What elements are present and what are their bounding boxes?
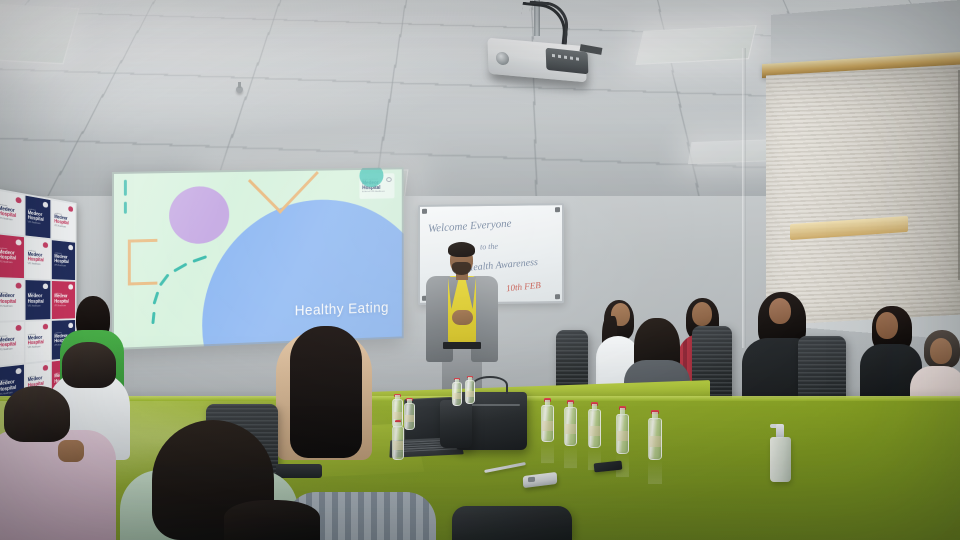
backdrop-tile-name-second: Hospital	[28, 299, 44, 305]
bottle-body	[541, 405, 554, 442]
water-bottle[interactable]	[452, 378, 462, 406]
backdrop-tile-name-second: Hospital	[0, 299, 16, 305]
shoulder-bag[interactable]	[440, 400, 472, 448]
conference-room-photo: مستشفىMedeorHospitalVPS Healthcareمستشفى…	[0, 0, 960, 540]
bottle-body	[465, 380, 475, 404]
bottle-label	[542, 421, 553, 431]
backdrop-tile-logo-icon	[15, 197, 21, 204]
backdrop-tile-logo-icon	[43, 283, 48, 289]
presenter-beard	[452, 262, 471, 275]
bottle-body	[648, 418, 662, 460]
slide-dash	[153, 291, 160, 304]
backdrop-tile: مستشفىMedeorHospitalVPS Healthcare	[0, 190, 24, 235]
slide-blue-circle	[202, 197, 403, 350]
bottle-reflection	[541, 442, 554, 463]
backdrop-tile-tagline: VPS Healthcare	[0, 306, 21, 308]
bottle-body	[392, 426, 404, 460]
bottle-label	[589, 426, 600, 436]
attendee-hair	[62, 342, 116, 388]
slide-dash	[124, 202, 127, 214]
attendee-head	[769, 298, 791, 324]
backdrop-tile-arabic: مستشفى	[0, 292, 21, 295]
bottle-body	[588, 409, 601, 448]
backdrop-tile-tagline: VPS Healthcare	[0, 262, 21, 266]
backdrop-tile-tagline: VPS Healthcare	[54, 305, 73, 307]
backdrop-tile-logo-icon	[68, 284, 73, 289]
hand-sanitizer[interactable]	[770, 437, 791, 482]
attendee-head	[876, 312, 898, 339]
backdrop-tile-logo-icon	[68, 323, 73, 328]
wall-corner	[742, 48, 746, 348]
whiteboard-text-line3: Health Awareness	[466, 257, 539, 274]
slide-dash	[192, 255, 207, 263]
bottle-label	[466, 391, 474, 397]
water-bottle[interactable]	[404, 398, 415, 430]
projection-screen: مستشفى ميدور Medeor Hospital A Unit of V…	[112, 167, 404, 350]
bottle-reflection	[564, 446, 577, 468]
remote-button[interactable]	[528, 477, 535, 483]
bottle-label	[405, 415, 414, 422]
attendee-hair	[4, 386, 70, 442]
attendee-head	[930, 338, 952, 364]
backdrop-tile-arabic: مستشفى	[28, 292, 49, 295]
slide-dash	[173, 263, 187, 273]
bottle-label	[565, 424, 576, 434]
backdrop-tile-tagline: VPS Healthcare	[0, 348, 21, 352]
whiteboard-signature: 10th FEB	[506, 280, 541, 293]
chair-armrest[interactable]	[276, 464, 322, 478]
bottle-label	[617, 431, 628, 442]
backdrop-tile-tagline: VPS Healthcare	[28, 346, 49, 350]
backdrop-tile: مستشفىMedeorHospitalVPS Healthcare	[52, 241, 75, 280]
backdrop-tile-logo-icon	[15, 367, 21, 373]
backdrop-tile-logo-icon	[15, 240, 21, 246]
whiteboard-corner	[555, 207, 560, 212]
water-bottle[interactable]	[564, 400, 577, 446]
bottle-body	[564, 407, 577, 446]
backdrop-tile-arabic: مستشفى	[54, 293, 73, 296]
backdrop-tile: مستشفىMedeorHospitalVPS Healthcare	[25, 238, 50, 279]
backdrop-tile-tagline: VPS Healthcare	[28, 305, 49, 307]
backdrop-tile-logo-icon	[15, 325, 21, 331]
water-bottle[interactable]	[616, 406, 629, 454]
backdrop-tile-name-second: Hospital	[54, 299, 69, 304]
water-bottle[interactable]	[541, 398, 554, 442]
water-bottle[interactable]	[465, 376, 475, 404]
slide-logo: مستشفى ميدور Medeor Hospital A Unit of V…	[359, 173, 394, 199]
attendee-hair	[224, 500, 320, 540]
attendee-hand	[58, 440, 84, 462]
attendee-head	[692, 302, 712, 326]
water-bottle[interactable]	[392, 420, 404, 460]
slide-logo-tagline: A Unit of VPS Healthcare	[362, 191, 392, 194]
blinds-cord[interactable]	[958, 70, 960, 280]
bottle-label	[393, 441, 403, 450]
bag-handle[interactable]	[472, 376, 508, 394]
backdrop-tile: مستشفىMedeorHospitalVPS Healthcare	[25, 280, 50, 320]
backdrop-tile-logo-icon	[43, 242, 48, 248]
sanitizer-pump[interactable]	[776, 424, 784, 438]
backdrop-tile-tagline: VPS Healthcare	[28, 264, 49, 267]
backdrop-tile: مستشفىMedeorHospitalVPS Healthcare	[25, 321, 50, 362]
backdrop-tile-logo-icon	[68, 206, 73, 212]
backdrop-tile: مستشفىMedeorHospitalVPS Healthcare	[0, 279, 24, 321]
slide-healthy-eating: مستشفى ميدور Medeor Hospital A Unit of V…	[112, 167, 404, 350]
presenter-hands	[452, 310, 473, 325]
presenter-hair	[448, 242, 475, 257]
slide-orange-square-top	[128, 239, 158, 286]
blinds-shading	[766, 65, 960, 326]
backdrop-tile: مستشفىMedeorHospitalVPS Healthcare	[0, 235, 24, 278]
backdrop-tile-logo-icon	[43, 324, 48, 330]
bottle-label	[649, 436, 661, 447]
backdrop-tile-logo-icon	[43, 202, 48, 208]
backdrop-tile-logo-icon	[43, 364, 48, 370]
bottle-label	[453, 393, 461, 399]
whiteboard-corner	[555, 294, 560, 299]
bottle-label	[393, 412, 402, 419]
backdrop-tile: مستشفىMedeorHospitalVPS Healthcare	[0, 322, 24, 365]
backdrop-tile-logo-icon	[68, 245, 73, 251]
slide-dash	[151, 312, 155, 324]
backdrop-tile-logo-icon	[15, 282, 21, 288]
attendee-hair	[290, 326, 362, 458]
office-chair[interactable]	[452, 506, 572, 540]
backdrop-tile: مستشفىMedeorHospitalVPS Healthcare	[52, 281, 75, 319]
water-bottle[interactable]	[648, 410, 662, 460]
bottle-reflection	[648, 460, 662, 484]
slide-purple-circle	[169, 186, 229, 245]
slide-dash	[159, 273, 170, 286]
whiteboard-corner	[422, 209, 427, 214]
slide-dash	[124, 180, 127, 196]
whiteboard-text-line2: to the	[480, 242, 498, 252]
backdrop-tile: مستشفىMedeorHospitalVPS Healthcare	[25, 196, 50, 239]
bottle-body	[404, 403, 415, 430]
bottle-body	[452, 382, 462, 406]
backdrop-tile-tagline: VPS Healthcare	[54, 265, 73, 268]
whiteboard-text-line1: Welcome Everyone	[428, 218, 512, 235]
water-bottle[interactable]	[588, 402, 601, 448]
bottle-body	[616, 414, 629, 454]
backdrop-tile: مستشفىMedeorHospitalVPS Healthcare	[52, 200, 75, 241]
presenter-belt	[443, 342, 481, 349]
